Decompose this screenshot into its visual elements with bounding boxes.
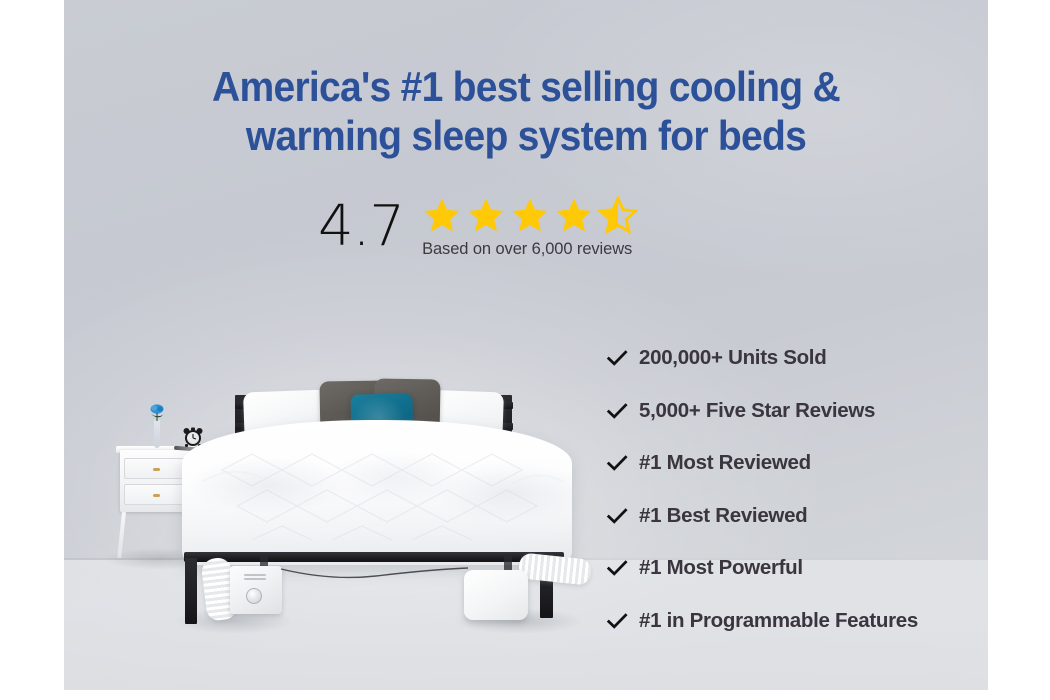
cooling-unit <box>464 570 528 620</box>
feature-label: 200,000+ Units Sold <box>639 346 826 370</box>
air-duct-hose <box>518 552 592 585</box>
bed-leg <box>185 558 197 624</box>
feature-label: 5,000+ Five Star Reviews <box>639 399 875 423</box>
star-icon-full <box>510 196 550 234</box>
star-icon-full <box>554 196 594 234</box>
drawer-knob <box>153 468 160 471</box>
headline-line-2: warming sleep system for beds <box>246 112 806 159</box>
promotional-banner: America's #1 best selling cooling & warm… <box>0 0 1050 700</box>
check-icon <box>606 557 628 579</box>
list-item: #1 Best Reviewed <box>606 490 918 543</box>
feature-list: 200,000+ Units Sold 5,000+ Five Star Rev… <box>606 332 918 647</box>
check-icon <box>606 452 628 474</box>
star-icon-half <box>598 196 638 234</box>
star-icon-full <box>466 196 506 234</box>
glass-vase <box>154 420 160 448</box>
feature-label: #1 Most Powerful <box>639 556 803 580</box>
list-item: #1 Most Reviewed <box>606 437 918 490</box>
check-icon <box>606 505 628 527</box>
rating-score: 4.7 <box>318 200 404 254</box>
page-title: America's #1 best selling cooling & warm… <box>96 62 955 160</box>
blue-flower-icon <box>147 404 167 422</box>
feature-label: #1 Best Reviewed <box>639 504 807 528</box>
rating-block: 4.7 <box>318 196 638 259</box>
nightstand-drawer <box>124 458 188 479</box>
unit-vent <box>244 578 266 580</box>
check-icon <box>606 347 628 369</box>
star-rating <box>422 196 638 234</box>
power-wire <box>279 566 469 582</box>
feature-label: #1 Most Reviewed <box>639 451 811 475</box>
drawer-knob <box>153 494 160 497</box>
review-count-label: Based on over 6,000 reviews <box>422 240 638 259</box>
control-dial[interactable] <box>246 588 262 604</box>
list-item: #1 in Programmable Features <box>606 595 918 648</box>
feature-label: #1 in Programmable Features <box>639 609 918 633</box>
cooling-unit <box>230 566 282 614</box>
list-item: 5,000+ Five Star Reviews <box>606 385 918 438</box>
headline-line-1: America's #1 best selling cooling & <box>212 63 840 110</box>
nightstand-drawer <box>124 484 188 505</box>
check-icon <box>606 610 628 632</box>
check-icon <box>606 400 628 422</box>
list-item: #1 Most Powerful <box>606 542 918 595</box>
list-item: 200,000+ Units Sold <box>606 332 918 385</box>
duvet-pintuck-texture <box>182 420 572 565</box>
white-duvet <box>182 420 572 565</box>
unit-vent <box>244 574 266 576</box>
star-icon-full <box>422 196 462 234</box>
